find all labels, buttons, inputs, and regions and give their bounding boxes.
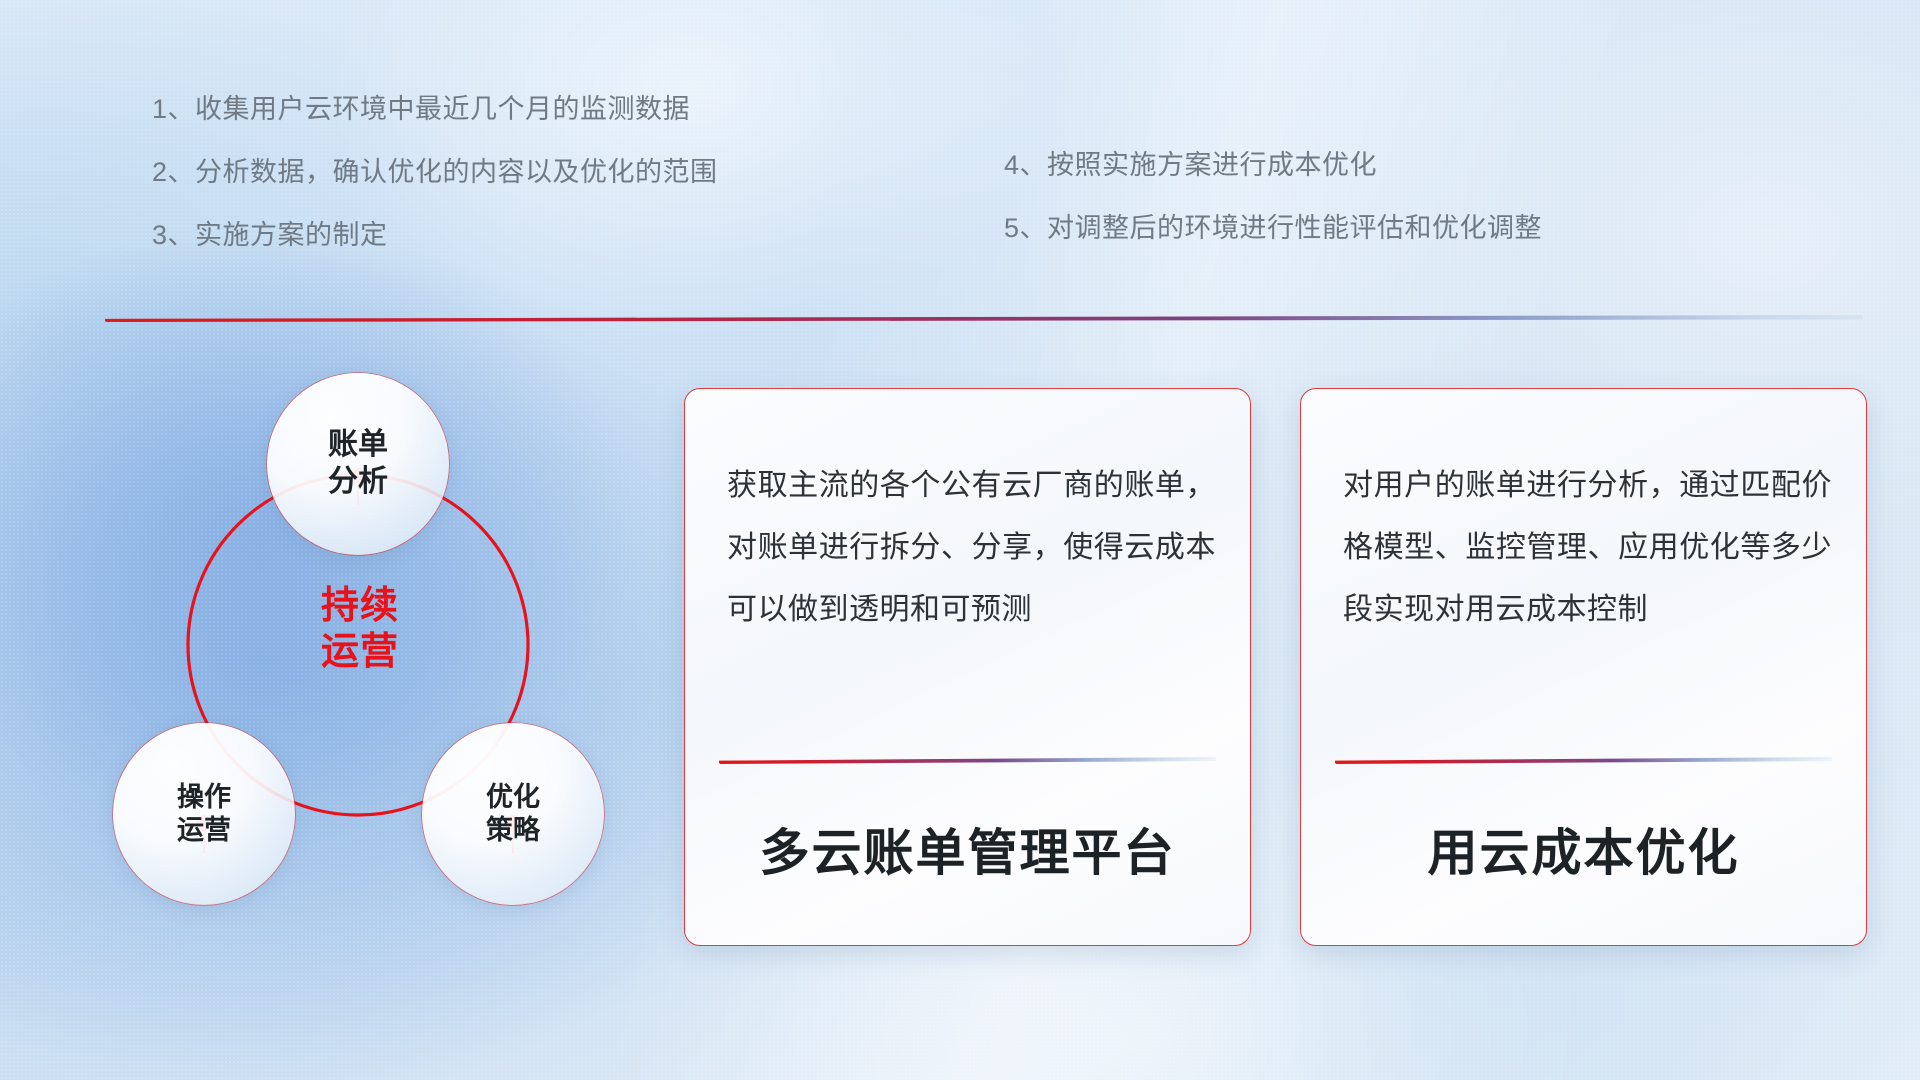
process-step-5: 5、对调整后的环境进行性能评估和优化调整 <box>1004 215 1542 242</box>
venn-bubble-bill-analysis[interactable]: 账单 分析 <box>267 373 449 555</box>
venn-bubble-left-line2: 运营 <box>177 815 231 845</box>
card-1-divider <box>719 757 1216 764</box>
card-1-title: 多云账单管理平台 <box>685 813 1250 885</box>
card-2-divider <box>1335 757 1832 764</box>
feature-card-cost-optimization[interactable]: 对用户的账单进行分析，通过匹配价格模型、监控管理、应用优化等多少段实现对用云成本… <box>1300 388 1867 946</box>
card-1-description: 获取主流的各个公有云厂商的账单，对账单进行拆分、分享，使得云成本可以做到透明和可… <box>727 455 1216 640</box>
card-2-description: 对用户的账单进行分析，通过匹配价格模型、监控管理、应用优化等多少段实现对用云成本… <box>1343 455 1832 640</box>
venn-bubble-operations[interactable]: 操作 运营 <box>113 723 295 905</box>
venn-bubble-top-line2: 分析 <box>328 465 388 498</box>
venn-bubble-left-line1: 操作 <box>177 782 231 812</box>
process-step-1: 1、收集用户云环境中最近几个月的监测数据 <box>152 96 718 123</box>
venn-bubble-top-line1: 账单 <box>328 428 388 461</box>
process-step-4: 4、按照实施方案进行成本优化 <box>1004 152 1542 179</box>
venn-bubble-right-line1: 优化 <box>486 782 540 812</box>
continuous-operation-diagram: 账单 分析 操作 运营 优化 策略 持续 运营 <box>100 355 640 935</box>
venn-center-label-line1: 持续 <box>295 583 425 629</box>
process-steps-right: 4、按照实施方案进行成本优化 5、对调整后的环境进行性能评估和优化调整 <box>1004 152 1542 242</box>
venn-bubble-optimization-strategy[interactable]: 优化 策略 <box>422 723 604 905</box>
card-2-title: 用云成本优化 <box>1301 813 1866 885</box>
process-step-2: 2、分析数据，确认优化的内容以及优化的范围 <box>152 159 718 186</box>
venn-bubble-right-line2: 策略 <box>486 815 540 845</box>
venn-center-label: 持续 运营 <box>295 583 425 676</box>
feature-card-multicloud-billing[interactable]: 获取主流的各个公有云厂商的账单，对账单进行拆分、分享，使得云成本可以做到透明和可… <box>684 388 1251 946</box>
venn-center-label-line2: 运营 <box>295 629 425 675</box>
process-step-3: 3、实施方案的制定 <box>152 222 718 249</box>
process-steps-left: 1、收集用户云环境中最近几个月的监测数据 2、分析数据，确认优化的内容以及优化的… <box>152 96 718 249</box>
